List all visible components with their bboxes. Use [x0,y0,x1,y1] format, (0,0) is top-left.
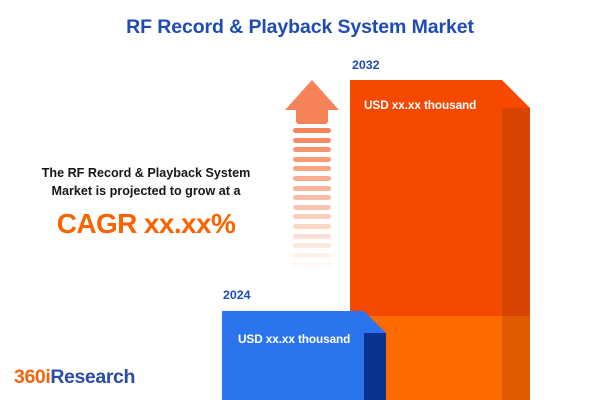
bar-2024-value-label: USD xx.xx thousand [238,332,350,346]
arrow-neck [296,108,328,124]
arrow-head-icon [285,80,339,110]
arrow-stripe [293,282,331,287]
arrow-stripe [293,128,331,133]
arrow-stripe [293,195,331,200]
arrow-stripe [293,234,331,239]
bar-2024-side-face [364,333,386,400]
bar-2024: USD xx.xx thousand [222,311,386,400]
logo-text-blue: Research [50,366,135,388]
growth-statement-line-2: Market is projected to grow at a [12,183,280,201]
bar-year-label-2032: 2032 [352,58,380,72]
infographic-canvas: RF Record & Playback System Market The R… [0,0,600,400]
arrow-stripes [293,128,331,285]
arrow-stripe [293,176,331,181]
bar-2032-front-upper [350,80,502,316]
arrow-stripe [293,138,331,143]
growth-statement: The RF Record & Playback System Market i… [12,165,280,240]
growth-arrow-icon [284,80,340,285]
bar-2032-top-face [502,80,530,108]
arrow-stripe [293,214,331,219]
bar-2024-front [222,311,364,400]
bar-2032-value-label: USD xx.xx thousand [364,98,476,112]
arrow-stripe [293,147,331,152]
bar-2032-side-face-lower [502,316,530,400]
arrow-stripe [293,157,331,162]
arrow-stripe [293,262,331,267]
arrow-stripe [293,166,331,171]
cagr-value: CAGR xx.xx% [12,208,280,240]
arrow-stripe [293,224,331,229]
arrow-stripe [293,253,331,258]
page-title: RF Record & Playback System Market [0,16,600,39]
arrow-stripe [293,186,331,191]
bar-year-label-2024: 2024 [223,288,251,302]
arrow-stripe [293,205,331,210]
arrow-stripe [293,243,331,248]
growth-statement-line-1: The RF Record & Playback System [12,165,280,183]
bar-2024-top-face [364,311,386,333]
brand-logo[interactable]: 360iResearch [14,366,135,389]
arrow-stripe [293,272,331,277]
logo-text-orange: 360i [14,366,50,388]
